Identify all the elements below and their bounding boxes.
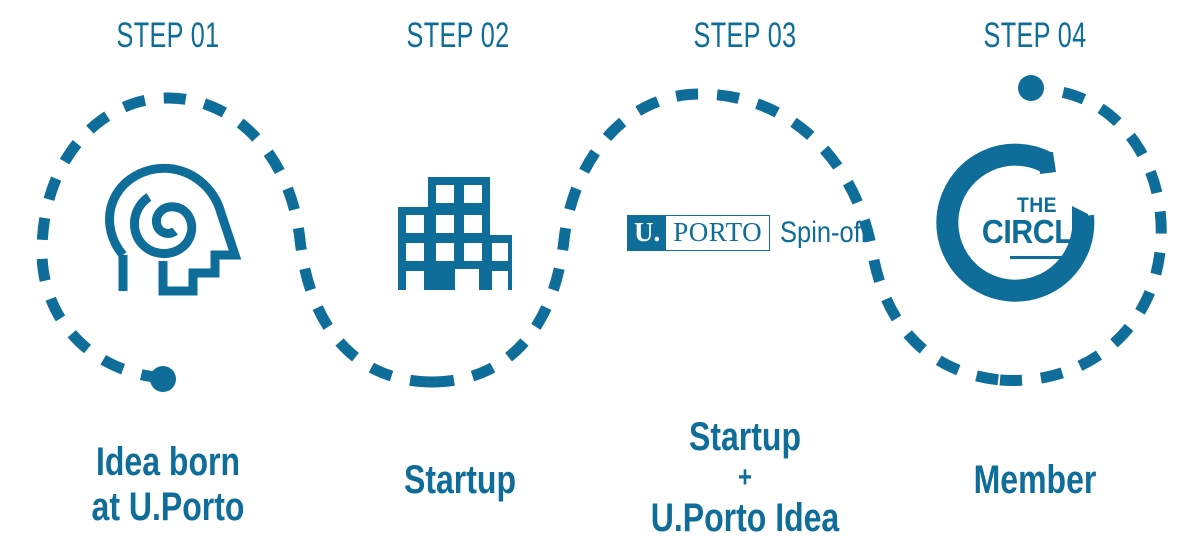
caption-step-3-plus: +	[649, 460, 841, 496]
step-label-1: STEP 01	[96, 18, 240, 53]
the-circle-line-2: CIRCLE	[980, 216, 1094, 248]
uporto-spinoff-text: Spin-off	[780, 216, 867, 250]
caption-step-4-line-1: Member	[939, 458, 1131, 503]
the-circle-wordmark: THE CIRCLE	[975, 196, 1099, 259]
uporto-spinoff-logo: U. PORTO Spin-off	[627, 213, 883, 253]
step-label-2: STEP 02	[386, 18, 530, 53]
uporto-u-mark: U.	[628, 216, 665, 250]
path-start-dot	[150, 366, 176, 392]
step-label-3: STEP 03	[673, 18, 817, 53]
caption-step-3-line-3: U.Porto Idea	[649, 496, 841, 541]
caption-step-1: Idea born at U.Porto	[72, 440, 264, 530]
caption-step-1-line-2: at U.Porto	[72, 485, 264, 530]
caption-step-3-line-1: Startup	[649, 415, 841, 460]
caption-step-2: Startup	[364, 458, 556, 503]
caption-step-2-line-1: Startup	[364, 458, 556, 503]
uporto-logo-box: U. PORTO	[627, 215, 770, 251]
step-label-4: STEP 04	[963, 18, 1107, 53]
process-flow-infographic: STEP 01 STEP 02 STEP 03 STEP 04 U. PORTO…	[0, 0, 1200, 552]
head-with-spiral-icon	[110, 168, 236, 291]
caption-step-4: Member	[939, 458, 1131, 503]
path-end-dot	[1018, 75, 1044, 101]
the-circle-underline	[1010, 256, 1064, 259]
office-building-icon	[398, 177, 512, 290]
caption-step-3: Startup + U.Porto Idea	[649, 415, 841, 541]
caption-step-1-line-1: Idea born	[72, 440, 264, 485]
dashed-path-segment-1	[42, 98, 432, 382]
uporto-porto-wordmark: PORTO	[665, 216, 769, 250]
